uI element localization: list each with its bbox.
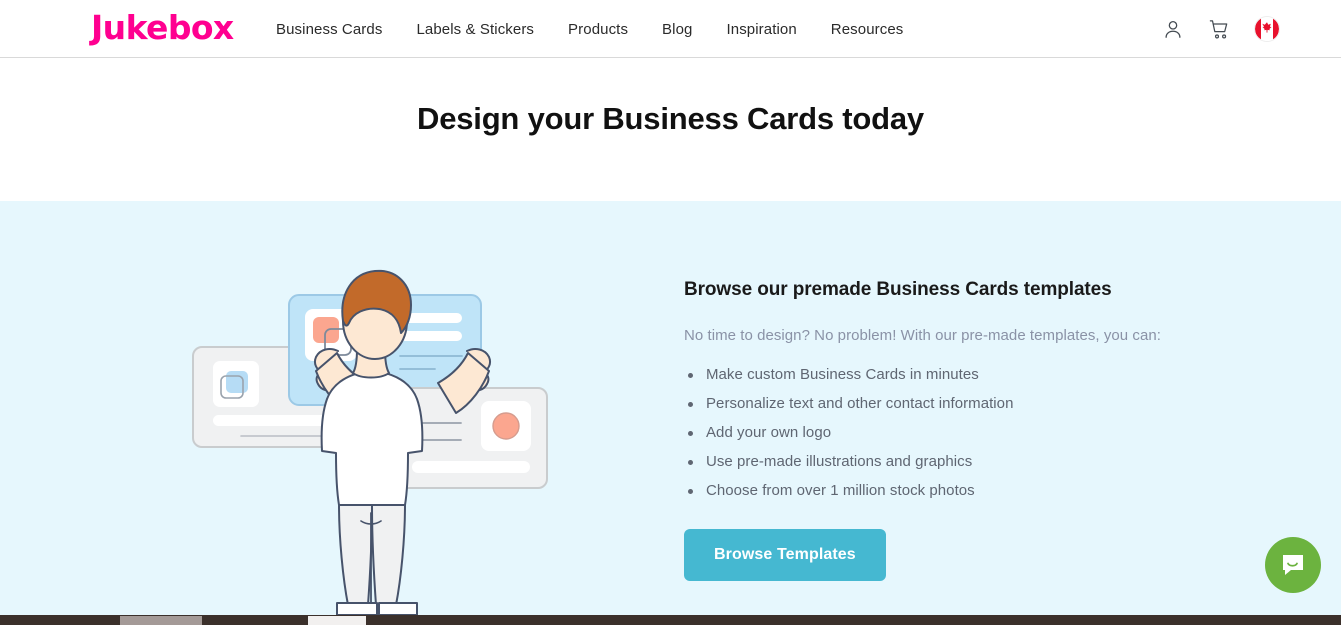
browse-templates-button[interactable]: Browse Templates [684,529,886,581]
nav-products[interactable]: Products [568,21,628,38]
header-icon-group [1162,0,1279,58]
list-item: Choose from over 1 million stock photos [684,482,1284,499]
list-item: Use pre-made illustrations and graphics [684,453,1284,470]
promo-benefit-list: Make custom Business Cards in minutes Pe… [684,366,1284,499]
next-section-edge [0,615,1341,625]
nav-labels-stickers[interactable]: Labels & Stickers [416,21,534,38]
nav-inspiration[interactable]: Inspiration [726,21,796,38]
promo-heading: Browse our premade Business Cards templa… [684,279,1284,301]
list-item: Personalize text and other contact infor… [684,395,1284,412]
jukebox-logo[interactable]: Jukebox [91,11,234,44]
shopping-cart-icon[interactable] [1208,18,1231,41]
chat-launcher-button[interactable] [1265,537,1321,593]
page-title: Design your Business Cards today [417,101,924,137]
list-item: Add your own logo [684,424,1284,441]
chat-bubble-icon [1279,551,1307,579]
nav-blog[interactable]: Blog [662,21,692,38]
list-item: Make custom Business Cards in minutes [684,366,1284,383]
strip-segment [120,616,202,625]
site-header: Jukebox Business Cards Labels & Stickers… [0,0,1341,58]
nav-business-cards[interactable]: Business Cards [276,21,382,38]
strip-segment [308,616,366,625]
main-navigation: Business Cards Labels & Stickers Product… [276,0,937,58]
promo-section: Browse our premade Business Cards templa… [0,201,1341,615]
person-holding-business-cards-illustration [185,263,557,615]
nav-resources[interactable]: Resources [831,21,904,38]
user-account-icon[interactable] [1162,18,1184,40]
promo-copy: Browse our premade Business Cards templa… [684,279,1284,581]
promo-intro: No time to design? No problem! With our … [684,327,1284,344]
hero-title-section: Design your Business Cards today [0,58,1341,201]
canada-flag-icon[interactable] [1255,17,1279,41]
